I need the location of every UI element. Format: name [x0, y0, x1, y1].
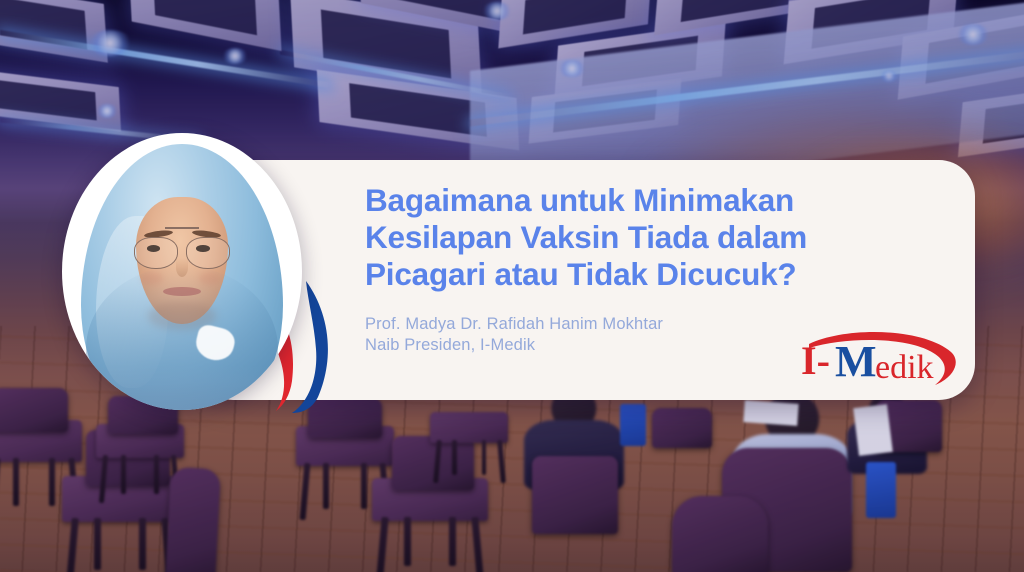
logo-text-i: I- — [801, 338, 830, 383]
slide-canvas: Bagaimana untuk Minimakan Kesilapan Vaks… — [0, 0, 1024, 572]
logo-text-m: M — [835, 337, 877, 386]
i-medik-logo: I- M edik — [795, 322, 967, 398]
slide-title: Bagaimana untuk Minimakan Kesilapan Vaks… — [365, 182, 957, 293]
logo-text-edik: edik — [875, 349, 934, 386]
speaker-portrait — [62, 133, 302, 410]
portrait-bottom-fade — [62, 366, 302, 410]
eyeglasses-bridge — [165, 227, 199, 229]
